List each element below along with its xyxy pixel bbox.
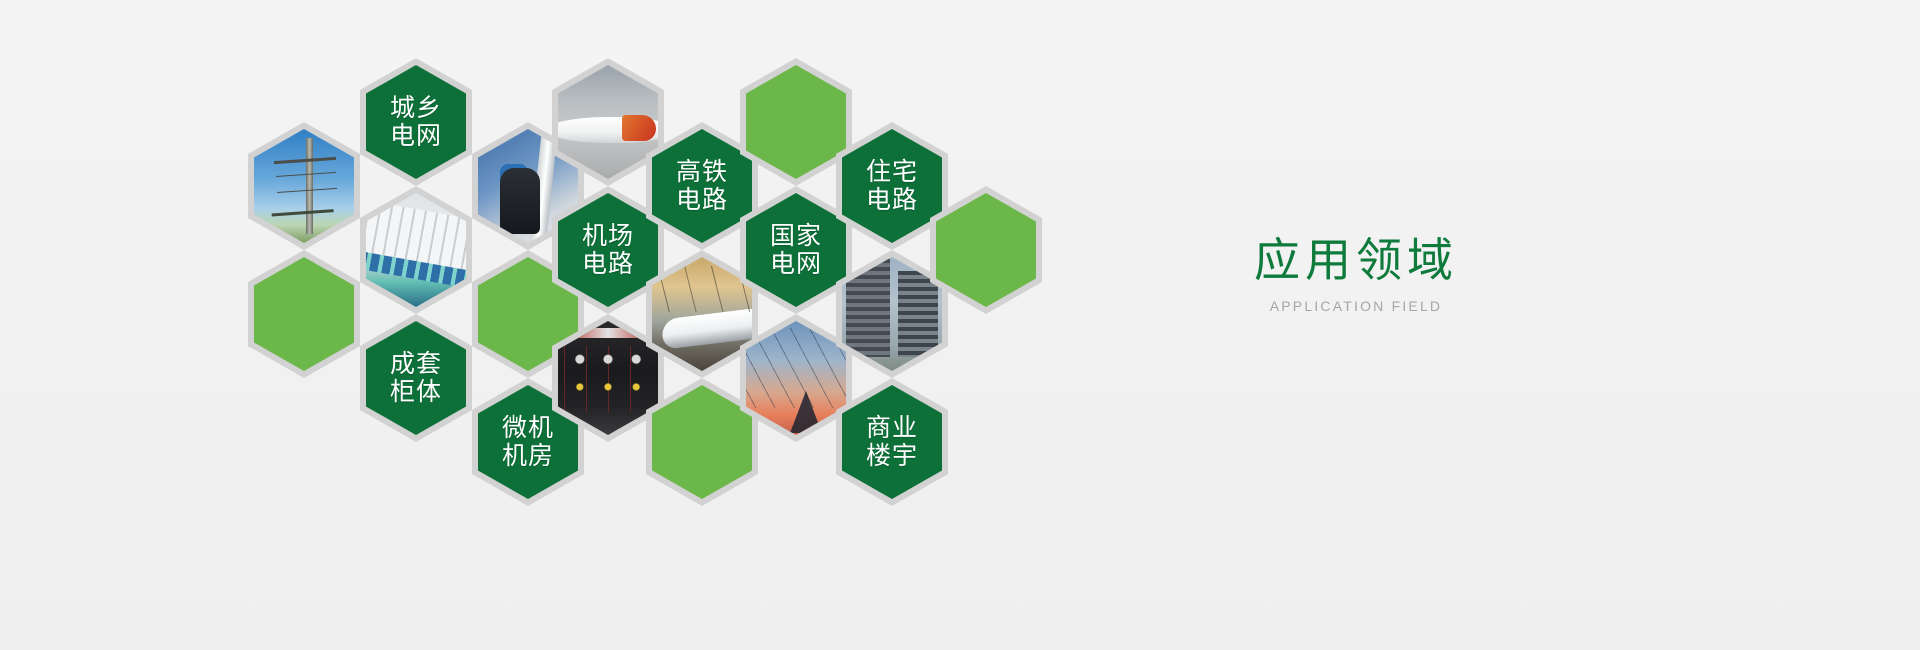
transmission-towers-sunset-image (746, 321, 846, 435)
hex-inner (558, 321, 658, 435)
hex-cell-labeled[interactable]: 成套 柜体 (360, 314, 472, 442)
hex-inner: 商业 楼宇 (842, 385, 942, 499)
switchgear-cabinets-image (366, 193, 466, 307)
hex-inner: 机场 电路 (558, 193, 658, 307)
hex-inner (558, 65, 658, 179)
utility-pole-blue-sky-image (254, 129, 354, 243)
hex-inner (254, 129, 354, 243)
hex-label: 住宅 电路 (866, 158, 918, 214)
hex-label: 商业 楼宇 (866, 414, 918, 470)
hex-label: 机场 电路 (582, 222, 634, 278)
hex-inner (936, 193, 1036, 307)
hex-cell-labeled[interactable]: 城乡 电网 (360, 58, 472, 186)
hex-inner: 国家 电网 (746, 193, 846, 307)
page-title: 应用领域 (1146, 236, 1566, 284)
hex-inner (254, 257, 354, 371)
airport-apron-plane-image (558, 65, 658, 179)
hex-inner (652, 385, 752, 499)
application-field-banner: 城乡 电网成套 柜体微机 机房机场 电路高铁 电路国家 电网住宅 电路商业 楼宇… (0, 0, 1920, 650)
relay-control-panel-image (558, 321, 658, 435)
title-block: 应用领域 APPLICATION FIELD (1146, 236, 1566, 314)
hex-inner (746, 65, 846, 179)
hex-cell-photo (248, 122, 360, 250)
hex-label: 成套 柜体 (390, 350, 442, 406)
hex-inner (366, 193, 466, 307)
high-speed-train-image (652, 257, 752, 371)
hex-inner (746, 321, 846, 435)
hex-inner (842, 257, 942, 371)
hex-cell-photo (360, 186, 472, 314)
hex-cell-labeled[interactable]: 商业 楼宇 (836, 378, 948, 506)
hex-label: 微机 机房 (502, 414, 554, 470)
hex-inner: 城乡 电网 (366, 65, 466, 179)
hexagon-honeycomb: 城乡 电网成套 柜体微机 机房机场 电路高铁 电路国家 电网住宅 电路商业 楼宇 (0, 0, 1120, 650)
hex-inner: 高铁 电路 (652, 129, 752, 243)
hex-cell-filler (248, 250, 360, 378)
hex-inner: 住宅 电路 (842, 129, 942, 243)
hex-label: 高铁 电路 (676, 158, 728, 214)
hex-label: 国家 电网 (770, 222, 822, 278)
residential-highrise-image (842, 257, 942, 371)
page-subtitle: APPLICATION FIELD (1146, 298, 1566, 314)
hex-label: 城乡 电网 (390, 94, 442, 150)
hex-inner: 成套 柜体 (366, 321, 466, 435)
hex-inner (652, 257, 752, 371)
